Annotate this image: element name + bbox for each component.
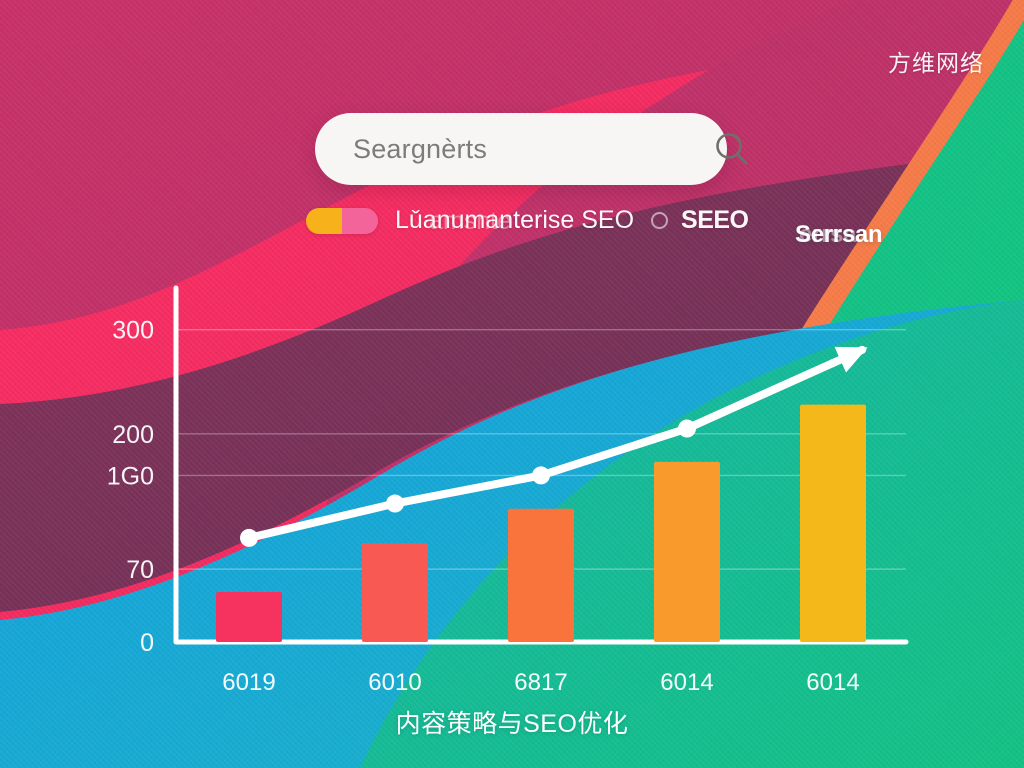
illustration-canvas: 方维网络 Lǔanumanterise SEO SEEO Serrsan 070… — [0, 0, 1024, 768]
line-marker-6014 — [678, 420, 696, 438]
line-marker-6817 — [532, 466, 550, 484]
bar-6014 — [654, 462, 720, 642]
y-axis-tick-label: 70 — [126, 556, 154, 584]
x-axis-tick-label: 6817 — [514, 669, 567, 696]
bar-6817 — [508, 509, 574, 642]
y-axis-tick-label: 0 — [140, 629, 154, 657]
x-axis-tick-label: 6014 — [806, 669, 859, 696]
x-axis-tick-label: 6010 — [368, 669, 421, 696]
x-axis-tick-label: 6014 — [660, 669, 713, 696]
x-axis-tick-labels: 60196010681760146014 — [222, 669, 859, 696]
bar-6010 — [362, 543, 428, 642]
line-marker-6019 — [240, 529, 258, 547]
y-axis-tick-label: 300 — [112, 317, 154, 345]
bar-6014 — [800, 405, 866, 642]
bar-6019 — [216, 592, 282, 642]
y-axis-tick-label: 200 — [112, 421, 154, 449]
chart-area: 0702001G0300 60196010681760146014 — [0, 0, 1024, 768]
page-title: 内容策略与SEO优化 — [0, 704, 1024, 740]
line-marker-6010 — [386, 495, 404, 513]
y-axis-tick-labels: 0702001G0300 — [107, 317, 154, 657]
x-axis-tick-label: 6019 — [222, 669, 275, 696]
y-axis-tick-label: 1G0 — [107, 462, 154, 490]
